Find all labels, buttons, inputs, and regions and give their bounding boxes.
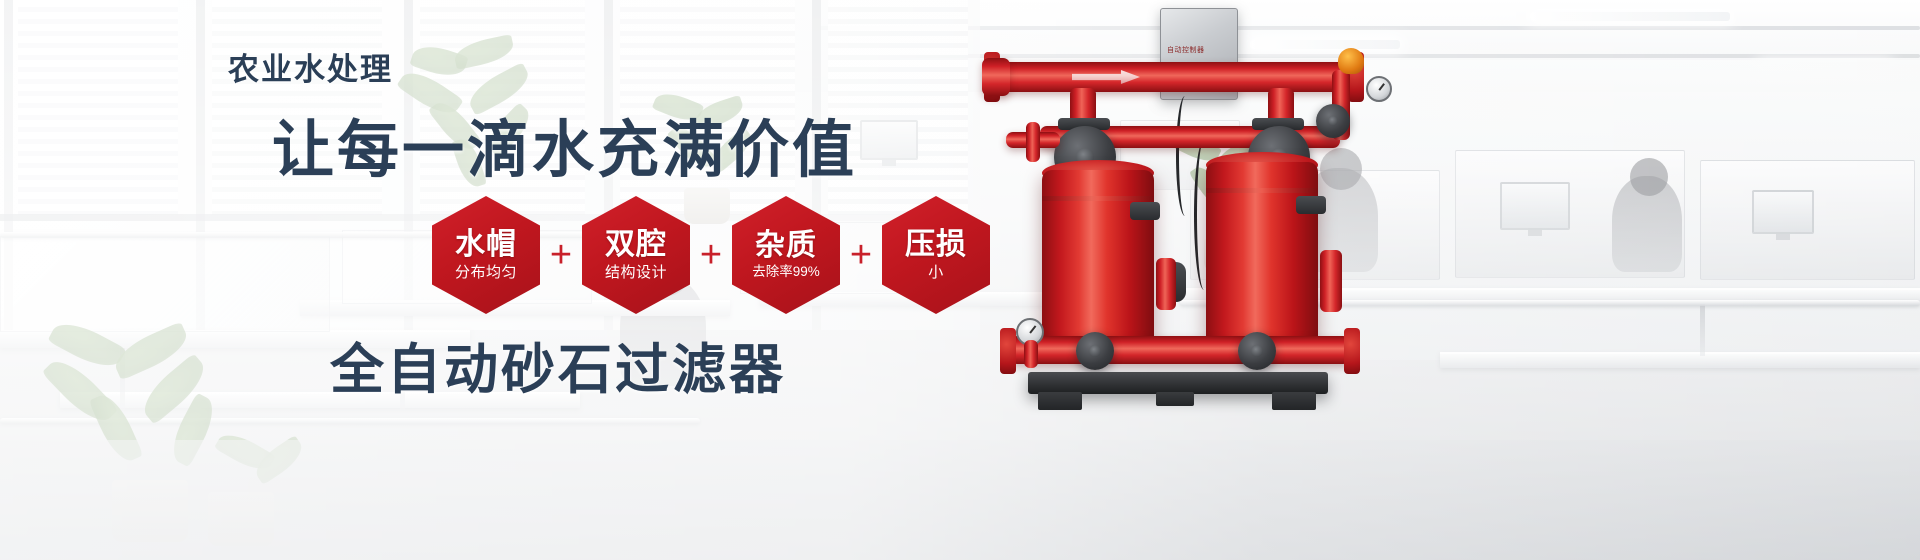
- plus-separator-2: +: [690, 236, 732, 274]
- tank-side-pipe: [1320, 250, 1342, 312]
- promo-banner: 自动控制器 BAIYUAN: [0, 0, 1920, 560]
- pipe-flange: [1344, 328, 1360, 374]
- sand-filter-equipment: 自动控制器 BAIYUAN: [980, 0, 1450, 560]
- gauge-stem: [1024, 340, 1038, 368]
- banner-copy: 农业水处理 让每一滴水充满价值 水帽 分布均匀 + 双腔 结构设计 + 杂质 去…: [0, 0, 1000, 560]
- feature-badge-2-title: 双腔: [605, 229, 667, 261]
- controller-cable: [1176, 96, 1194, 216]
- pressure-gauge: [1366, 76, 1392, 102]
- product-name-title: 全自动砂石过滤器: [330, 325, 786, 404]
- feature-badge-4-title: 压损: [905, 229, 967, 261]
- feature-badge-3-sub: 去除率99%: [752, 265, 820, 280]
- skid-foot: [1038, 392, 1082, 410]
- bottom-manifold-pipe: [1010, 336, 1350, 364]
- page-title: 让每一滴水充满价值: [272, 99, 857, 189]
- feature-badge-4[interactable]: 压损 小: [882, 196, 990, 314]
- tank-clamp: [1296, 196, 1326, 214]
- plus-separator-3: +: [840, 236, 882, 274]
- small-valve: [1316, 104, 1350, 138]
- tank-band: [1042, 196, 1154, 201]
- pipe-flange: [1000, 328, 1016, 374]
- base-skid: [1028, 372, 1328, 394]
- skid-foot: [1156, 392, 1194, 406]
- eyebrow-text: 农业水处理: [228, 44, 393, 89]
- relief-valve-knob: [1338, 48, 1364, 74]
- feature-badge-2[interactable]: 双腔 结构设计: [582, 196, 690, 314]
- feature-badge-3-title: 杂质: [755, 230, 817, 262]
- bottom-valve: [1238, 332, 1276, 370]
- feature-badge-1-sub: 分布均匀: [455, 265, 517, 282]
- skid-foot: [1272, 392, 1316, 410]
- bottom-valve: [1076, 332, 1114, 370]
- tank-clamp: [1130, 202, 1160, 220]
- tank-side-pipe: [1156, 258, 1176, 310]
- controller-tag: 自动控制器: [1167, 45, 1205, 55]
- tank-band: [1206, 188, 1318, 193]
- feature-badge-2-sub: 结构设计: [605, 265, 667, 282]
- spur-pipe: [1026, 122, 1040, 162]
- feature-badge-1-title: 水帽: [455, 229, 517, 261]
- feature-badge-3[interactable]: 杂质 去除率99%: [732, 196, 840, 314]
- feature-badge-4-sub: 小: [928, 265, 944, 282]
- feature-badge-row: 水帽 分布均匀 + 双腔 结构设计 + 杂质 去除率99% + 压损 小: [432, 196, 990, 314]
- top-manifold-pipe: [994, 62, 1354, 92]
- plus-separator-1: +: [540, 236, 582, 274]
- feature-badge-1[interactable]: 水帽 分布均匀: [432, 196, 540, 314]
